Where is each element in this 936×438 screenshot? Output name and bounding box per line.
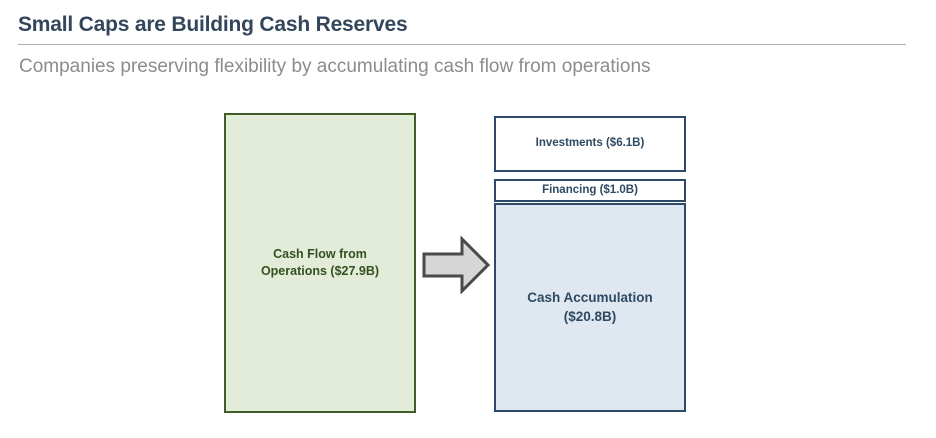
arrow-right-icon [422,236,490,294]
flow-box-cash-flow-from-operations: Cash Flow from Operations ($27.9B) [224,113,416,413]
flow-box-cash-accumulation: Cash Accumulation ($20.8B) [494,203,686,412]
flow-box-label-cash-accumulation: Cash Accumulation ($20.8B) [527,289,653,325]
cash-flow-diagram: Cash Flow from Operations ($27.9B) Inves… [0,0,936,438]
flow-box-investments: Investments ($6.1B) [494,116,686,172]
flow-box-financing: Financing ($1.0B) [494,179,686,202]
flow-box-label-financing: Financing ($1.0B) [542,183,638,199]
flow-box-label-investments: Investments ($6.1B) [536,136,645,152]
flow-box-label-operations: Cash Flow from Operations ($27.9B) [261,246,379,280]
